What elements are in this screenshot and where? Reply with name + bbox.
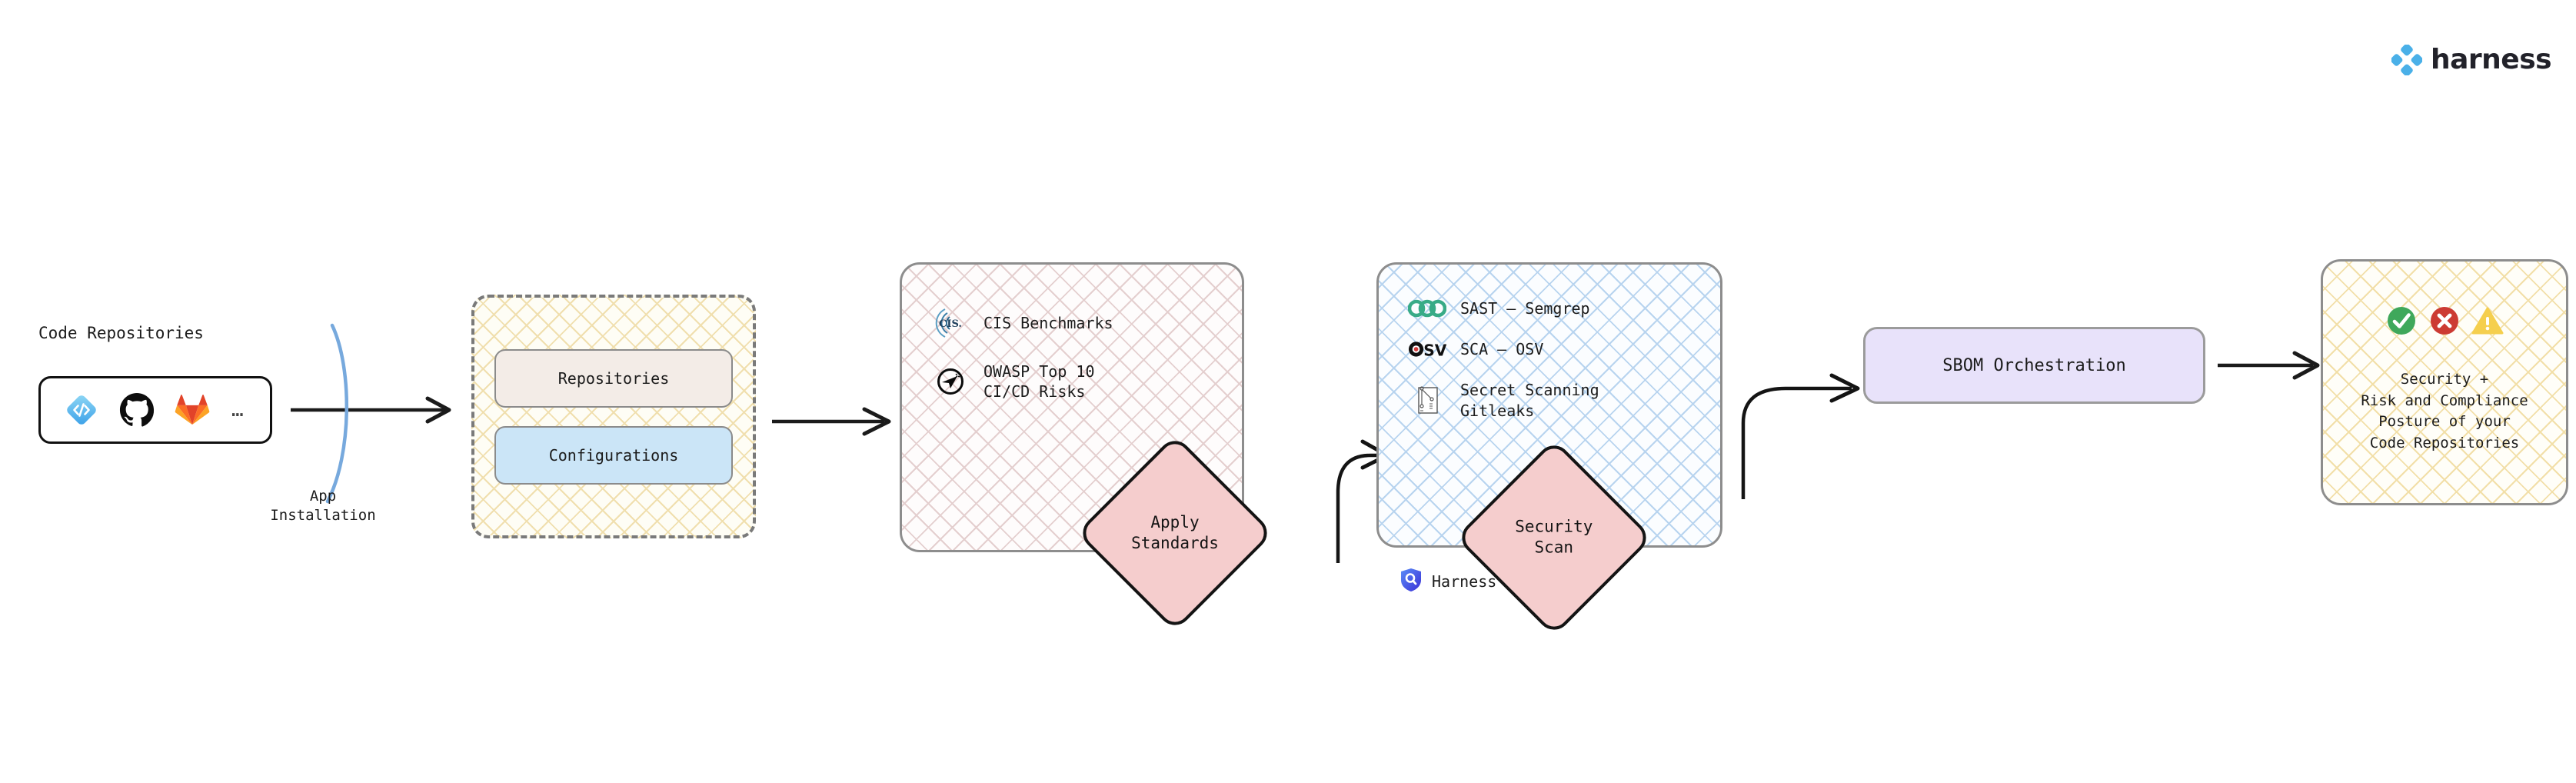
outcome-status-icons	[2385, 305, 2504, 340]
edge-scan-to-sbom	[1715, 308, 1884, 515]
harness-diamond-icon	[2391, 45, 2422, 75]
more-providers-ellipsis: …	[231, 398, 245, 421]
harness-wordmark: harness	[2431, 46, 2551, 74]
check-circle-icon	[2385, 305, 2418, 340]
gitleaks-logo-icon	[1408, 383, 1446, 418]
repositories-pill[interactable]: Repositories	[494, 349, 733, 408]
gitlab-icon	[175, 392, 210, 428]
harness-sto-shield-icon	[1399, 568, 1423, 595]
outcome-description: Security + Risk and Compliance Posture o…	[2361, 369, 2528, 454]
svg-text:CIS.: CIS.	[939, 318, 962, 330]
owasp-logo-icon	[931, 363, 970, 400]
scan-item-label: SAST — Semgrep	[1460, 298, 1590, 318]
sbom-orchestration-box[interactable]: SBOM Orchestration	[1863, 327, 2205, 404]
semgrep-logo-icon	[1408, 298, 1446, 318]
warning-triangle-icon	[2471, 305, 2504, 339]
edge-sbom-to-outcome	[2215, 342, 2338, 388]
scan-item-label: SCA — OSV	[1460, 339, 1543, 359]
scan-item-label: Secret Scanning Gitleaks	[1460, 380, 1599, 421]
x-circle-icon	[2428, 305, 2461, 340]
apply-standards-label: Apply Standards	[1131, 512, 1219, 554]
standards-item-label: OWASP Top 10 CI/CD Risks	[983, 362, 1095, 402]
standards-item-owasp: OWASP Top 10 CI/CD Risks	[931, 362, 1242, 402]
osv-logo-icon: SV	[1408, 338, 1446, 360]
outcome-box: Security + Risk and Compliance Posture o…	[2321, 259, 2568, 505]
app-installation-label: App Installation	[250, 487, 396, 525]
scan-item-sast: SAST — Semgrep	[1408, 298, 1720, 318]
harness-brand-logo: harness	[2391, 45, 2551, 75]
configurations-pill[interactable]: Configurations	[494, 426, 733, 485]
code-repositories-box: …	[38, 376, 272, 444]
security-scan-label: Security Scan	[1515, 517, 1593, 558]
harness-code-icon	[64, 392, 99, 428]
cis-logo-icon: CIS.	[931, 305, 970, 342]
standards-item-cis: CIS. CIS Benchmarks	[931, 305, 1242, 342]
github-icon	[119, 392, 155, 428]
code-repositories-title: Code Repositories	[38, 323, 204, 345]
configuration-container: Repositories Configurations	[471, 295, 756, 538]
svg-text:SV: SV	[1423, 342, 1446, 360]
edge-config-to-standards	[769, 400, 907, 446]
standards-item-label: CIS Benchmarks	[983, 313, 1113, 333]
scan-item-sca: SV SCA — OSV	[1408, 338, 1720, 360]
scan-item-secrets: Secret Scanning Gitleaks	[1408, 380, 1720, 421]
